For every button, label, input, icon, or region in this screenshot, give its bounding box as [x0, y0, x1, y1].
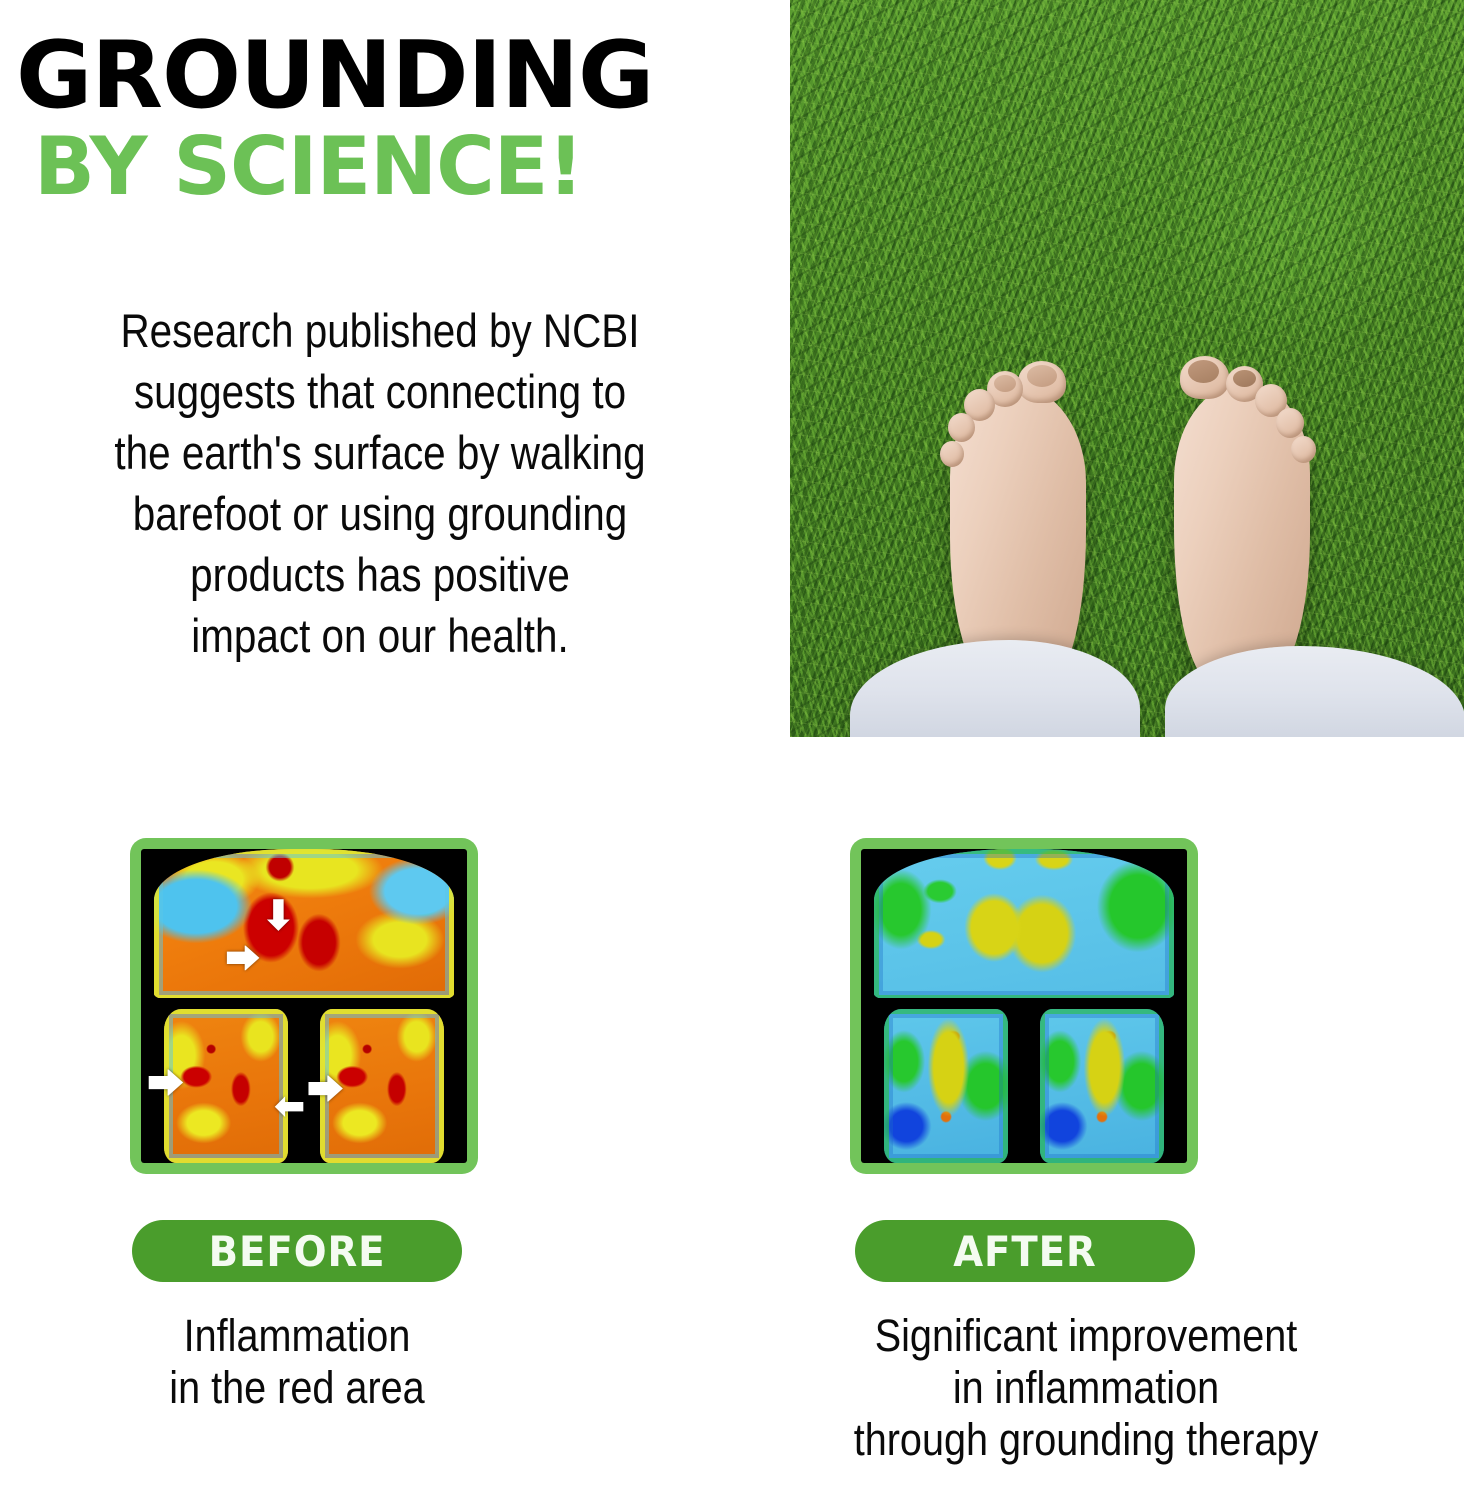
hotspot-arrow-right-icon: ⮕	[226, 943, 260, 977]
thermal-divider-bar	[141, 998, 467, 1006]
toenail	[1027, 365, 1057, 387]
toe	[940, 441, 964, 467]
after-thermal-frame	[850, 838, 1198, 1174]
toenail	[1188, 360, 1219, 383]
after-badge: AFTER	[855, 1220, 1195, 1282]
thermal-edge-gradient	[884, 1009, 1008, 1163]
thermal-torso-region	[874, 849, 1174, 1000]
thermal-divider-bar	[861, 998, 1187, 1006]
hotspot-arrow-down-icon: ⬇	[262, 896, 296, 936]
hero-section: GROUNDING BY SCIENCE! Research published…	[0, 0, 1464, 760]
before-badge-label: BEFORE	[209, 1227, 386, 1276]
thermal-torso-region	[154, 849, 454, 1000]
headline-primary: GROUNDING	[0, 30, 770, 121]
left-foot	[940, 355, 1100, 685]
before-thermal-frame: ⬇ ⮕ ⮕ ⬅ ⮕	[130, 838, 478, 1174]
barefoot-on-grass-photo	[790, 0, 1464, 737]
before-after-comparison: ⬇ ⮕ ⮕ ⬅ ⮕ BEFORE Inflammation in the red…	[0, 760, 1464, 1500]
thermal-edge-gradient	[874, 849, 1174, 1000]
headline-secondary: BY SCIENCE!	[0, 125, 770, 209]
right-foot	[1160, 352, 1325, 682]
toenail	[994, 375, 1016, 392]
after-thermal-image	[861, 849, 1187, 1163]
before-thermal-image: ⬇ ⮕ ⮕ ⬅ ⮕	[141, 849, 467, 1163]
body-line: the earth's surface by walking	[114, 426, 645, 479]
headline-block: GROUNDING BY SCIENCE!	[0, 30, 770, 209]
body-line: products has positive	[190, 548, 570, 601]
thermal-edge-gradient	[1040, 1009, 1164, 1163]
caption-line: Significant improvement	[778, 1310, 1394, 1362]
caption-line: through grounding therapy	[778, 1414, 1394, 1466]
after-badge-label: AFTER	[953, 1227, 1096, 1276]
thermal-right-leg-region	[1040, 1009, 1164, 1163]
caption-line: in the red area	[99, 1362, 495, 1414]
hotspot-arrow-right-icon: ⮕	[307, 1072, 343, 1108]
before-badge: BEFORE	[132, 1220, 462, 1282]
body-line: suggests that connecting to	[134, 365, 626, 418]
grass-texture-layer	[790, 0, 1464, 737]
caption-line: Inflammation	[99, 1310, 495, 1362]
hotspot-arrow-right-icon: ⮕	[148, 1066, 184, 1102]
toenail	[1233, 370, 1256, 387]
body-line: barefoot or using grounding	[133, 487, 627, 540]
before-caption: Inflammation in the red area	[99, 1310, 495, 1414]
toe	[1276, 408, 1304, 438]
after-caption: Significant improvement in inflammation …	[778, 1310, 1394, 1467]
body-line: impact on our health.	[191, 609, 568, 662]
caption-line: in inflammation	[778, 1362, 1394, 1414]
thermal-left-leg-region	[884, 1009, 1008, 1163]
body-line: Research published by NCBI	[120, 304, 639, 357]
toe	[1291, 436, 1316, 463]
body-paragraph: Research published by NCBI suggests that…	[58, 300, 701, 667]
toe	[948, 413, 975, 442]
thermal-edge-gradient	[154, 849, 454, 1000]
hotspot-arrow-left-icon: ⬅	[275, 1088, 305, 1124]
